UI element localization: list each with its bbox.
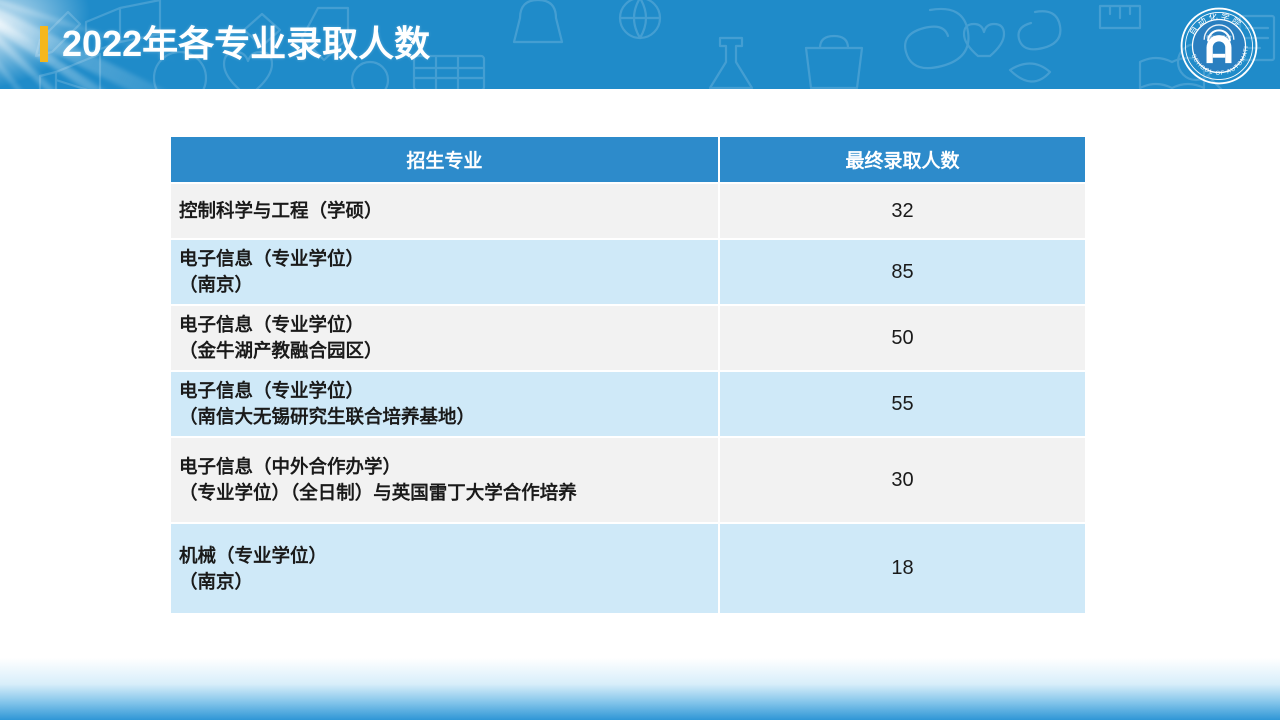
cell-major: 电子信息（专业学位） （南京） — [171, 238, 720, 304]
column-header-count: 最终录取人数 — [720, 137, 1085, 182]
column-header-major: 招生专业 — [171, 137, 720, 182]
cell-major: 电子信息（中外合作办学） （专业学位）（全日制）与英国雷丁大学合作培养 — [171, 436, 720, 522]
table-row: 机械（专业学位） （南京） 18 — [171, 522, 1085, 613]
title-accent-bar — [40, 26, 48, 62]
slide-footer-gradient — [0, 658, 1280, 720]
table-row: 电子信息（中外合作办学） （专业学位）（全日制）与英国雷丁大学合作培养 30 — [171, 436, 1085, 522]
cell-major: 控制科学与工程（学硕） — [171, 182, 720, 238]
table-body: 控制科学与工程（学硕） 32 电子信息（专业学位） （南京） 85 电子信息（专… — [171, 182, 1085, 613]
slide-header-banner: 2022年各专业录取人数 自动化学院 SCHOOL OF AUTOMATION … — [0, 0, 1280, 89]
table-header: 招生专业 最终录取人数 — [171, 137, 1085, 182]
cell-count: 32 — [720, 182, 1085, 238]
table-row: 控制科学与工程（学硕） 32 — [171, 182, 1085, 238]
cell-count: 55 — [720, 370, 1085, 436]
svg-text:南京信息工程大学: 南京信息工程大学 — [1207, 34, 1232, 39]
slide-root: 2022年各专业录取人数 自动化学院 SCHOOL OF AUTOMATION … — [0, 0, 1280, 720]
table-row: 电子信息（专业学位） （金牛湖产教融合园区） 50 — [171, 304, 1085, 370]
cell-count: 50 — [720, 304, 1085, 370]
cell-major: 电子信息（专业学位） （金牛湖产教融合园区） — [171, 304, 720, 370]
cell-major: 机械（专业学位） （南京） — [171, 522, 720, 613]
admissions-table: 招生专业 最终录取人数 控制科学与工程（学硕） 32 电子信息（专业学位） （南… — [171, 137, 1085, 613]
table-row: 电子信息（专业学位） （南信大无锡研究生联合培养基地） 55 — [171, 370, 1085, 436]
cell-count: 18 — [720, 522, 1085, 613]
school-of-automation-logo-icon: 自动化学院 SCHOOL OF AUTOMATION 南京信息工程大学 — [1180, 7, 1258, 85]
table-header-row: 招生专业 最终录取人数 — [171, 137, 1085, 182]
page-title: 2022年各专业录取人数 — [62, 18, 430, 70]
cell-count: 30 — [720, 436, 1085, 522]
cell-count: 85 — [720, 238, 1085, 304]
cell-major: 电子信息（专业学位） （南信大无锡研究生联合培养基地） — [171, 370, 720, 436]
table-row: 电子信息（专业学位） （南京） 85 — [171, 238, 1085, 304]
